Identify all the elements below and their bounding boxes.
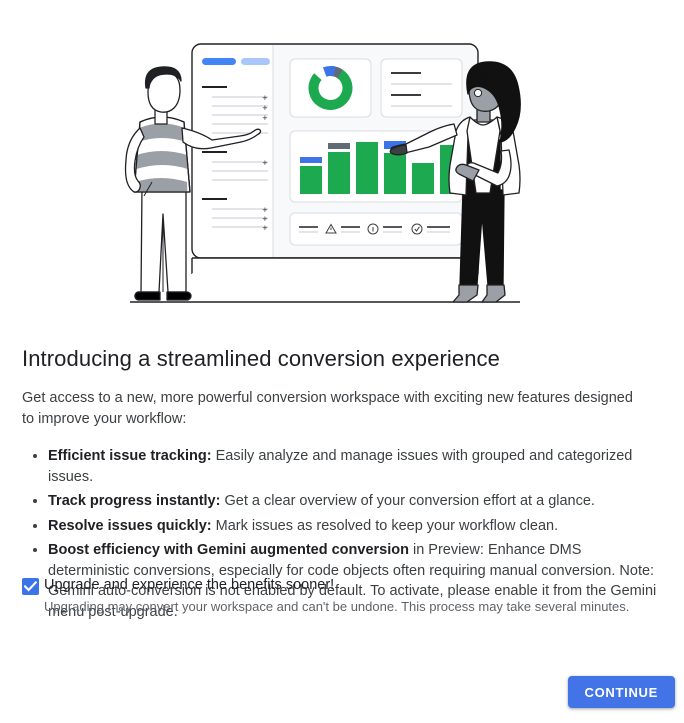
feature-title: Track progress instantly: [48, 493, 220, 509]
feature-title: Boost efficiency with Gemini augmented c… [48, 542, 409, 558]
feature-title: Efficient issue tracking: [48, 448, 212, 464]
upgrade-subtext: Upgrading may convert your workspace and… [44, 597, 629, 616]
svg-text:+: + [262, 215, 268, 223]
svg-text:+: + [262, 114, 268, 122]
continue-button[interactable]: CONTINUE [568, 676, 676, 708]
sidebar-pill-secondary [241, 58, 270, 65]
list-item: Resolve issues quickly: Mark issues as r… [48, 516, 662, 537]
page-title: Introducing a streamlined conversion exp… [22, 344, 662, 374]
list-item: Efficient issue tracking: Easily analyze… [48, 446, 662, 487]
intro-paragraph: Get access to a new, more powerful conve… [22, 388, 647, 430]
svg-text:+: + [262, 206, 268, 214]
upgrade-checkbox-label[interactable]: Upgrade and experience the benefits soon… [44, 575, 334, 596]
dialog-footer: CONTINUE [0, 660, 684, 723]
list-item: Track progress instantly: Get a clear ov… [48, 491, 662, 512]
svg-text:+: + [262, 94, 268, 102]
feature-text: Get a clear overview of your conversion … [220, 493, 595, 509]
feature-title: Resolve issues quickly: [48, 518, 212, 534]
summary-card [381, 59, 462, 117]
sidebar-pill-primary [202, 58, 236, 65]
status-row-card [290, 213, 462, 245]
donut-chart-card [290, 59, 371, 117]
svg-text:+: + [262, 104, 268, 112]
conversion-workspace-illustration: + + + + + + + [0, 0, 684, 330]
svg-text:+: + [262, 159, 268, 167]
feature-text: Mark issues as resolved to keep your wor… [212, 518, 559, 534]
checkmark-icon [24, 581, 37, 592]
svg-text:+: + [262, 224, 268, 232]
dashboard-panel: + + + + + + + [192, 44, 478, 274]
upgrade-checkbox[interactable] [22, 578, 39, 595]
